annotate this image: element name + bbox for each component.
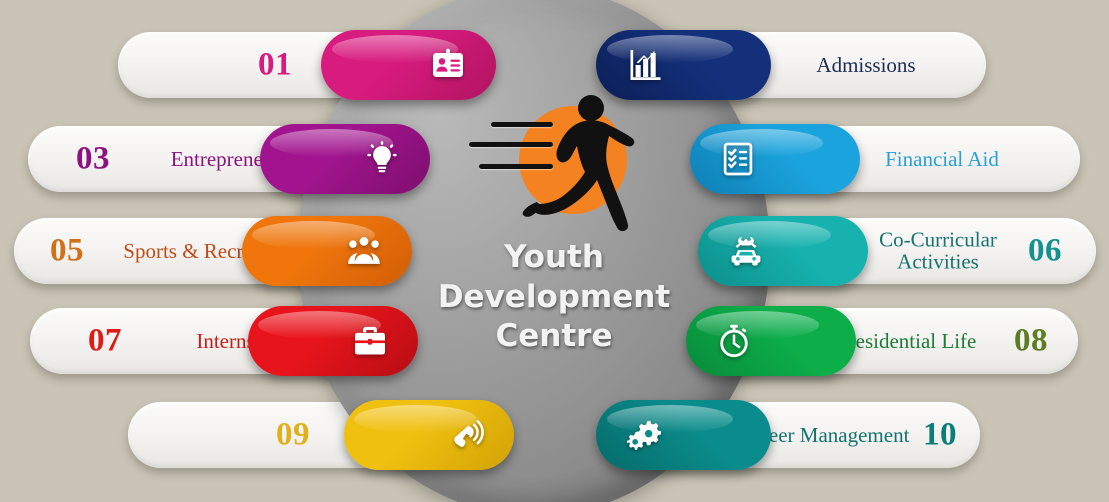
item-row-03[interactable]: 03Entrepreneurship [28, 120, 440, 198]
stopwatch-icon [716, 323, 752, 359]
item-number: 03 [76, 141, 110, 178]
infographic-canvas: 01Academic Advisement02Admissions03Entre… [0, 0, 1109, 502]
briefcase-icon [352, 323, 388, 359]
item-number: 07 [88, 323, 122, 360]
checklist-clipboard-icon [720, 141, 756, 177]
item-number: 09 [276, 417, 310, 454]
gears-cogs-icon [626, 417, 662, 453]
item-row-05[interactable]: 05Sports & Recreation [14, 212, 422, 290]
item-icon-pill-03[interactable] [260, 124, 430, 194]
item-icon-pill-08[interactable] [686, 306, 856, 376]
ringing-phone-icon [448, 417, 484, 453]
item-label: Co-Curricular Activities [838, 229, 1038, 274]
people-group-icon [346, 233, 382, 269]
item-label: Admissions [766, 54, 966, 76]
item-icon-pill-05[interactable] [242, 216, 412, 286]
item-row-08[interactable]: 08Residential Life [686, 302, 1088, 380]
item-icon-pill-01[interactable] [321, 30, 496, 100]
item-icon-pill-10[interactable] [596, 400, 771, 470]
item-icon-pill-07[interactable] [248, 306, 418, 376]
item-row-02[interactable]: 02Admissions [596, 26, 996, 104]
id-badge-icon [430, 47, 466, 83]
car-service-icon [728, 233, 764, 269]
item-icon-pill-02[interactable] [596, 30, 771, 100]
runner-silhouette-icon [519, 92, 639, 232]
center-title: Youth Development Centre [404, 238, 704, 357]
item-row-07[interactable]: 07Internships [30, 302, 428, 380]
item-row-01[interactable]: 01Academic Advisement [118, 26, 506, 104]
lightbulb-idea-icon [364, 141, 400, 177]
item-number: 05 [50, 233, 84, 270]
item-row-04[interactable]: 04Financial Aid [690, 120, 1090, 198]
running-athlete-logo [463, 92, 643, 232]
item-number: 01 [258, 47, 292, 84]
item-row-10[interactable]: 10Career Management [596, 396, 990, 474]
item-icon-pill-06[interactable] [698, 216, 868, 286]
item-row-09[interactable]: 09Mental Health [128, 396, 524, 474]
item-number: 08 [1014, 323, 1048, 360]
item-icon-pill-04[interactable] [690, 124, 860, 194]
item-icon-pill-09[interactable] [344, 400, 514, 470]
item-label: Financial Aid [842, 148, 1042, 170]
item-row-06[interactable]: 06Co-Curricular Activities [698, 212, 1106, 290]
bar-chart-growth-icon [626, 47, 662, 83]
